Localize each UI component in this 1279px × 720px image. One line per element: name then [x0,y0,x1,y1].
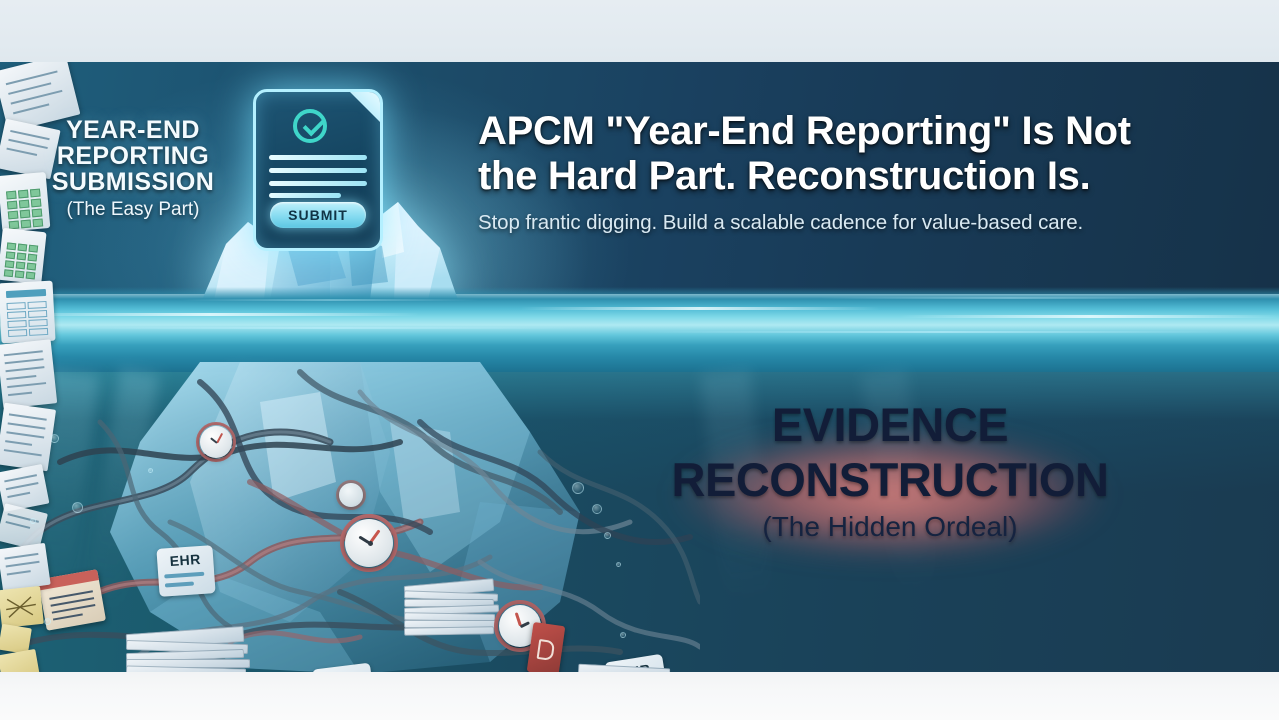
document-text-line [269,168,367,173]
binder-icon [527,622,566,672]
document-page [0,543,51,591]
bubble [30,518,36,524]
submit-button[interactable]: SUBMIT [270,202,366,228]
document-text-line [269,181,367,186]
paper-stack [404,582,500,646]
ehr-card: EHR [156,545,215,597]
tip-label-line-3: SUBMISSION [28,169,238,195]
paper-stack [126,630,252,672]
tip-of-iceberg-label: YEAR-END REPORTING SUBMISSION (The Easy … [28,117,238,222]
document-page [0,403,56,472]
tip-label-caption: (The Easy Part) [28,197,238,222]
bubble [44,618,51,625]
wave-highlight [520,307,880,310]
deep-label-line-2: RECONSTRUCTION [620,452,1160,507]
document-page [0,339,57,408]
wave-highlight [180,299,480,301]
spreadsheet-icon [0,228,47,284]
page-margin-top [0,0,1279,62]
form-document [0,281,56,344]
page-root: EHR EHR EHR [0,0,1279,720]
page-margin-bottom [0,672,1279,720]
ehr-card-label: EHR [169,551,201,569]
bubble [620,632,626,638]
document-text-line [269,193,341,198]
tip-label-line-2: REPORTING [28,143,238,169]
tip-label-line-1: YEAR-END [28,117,238,143]
clock-icon [340,514,398,572]
wave-highlight [60,327,580,329]
document-text-line [269,155,367,160]
clock-icon [336,480,366,510]
wave-highlight [900,315,1279,318]
bubble [572,482,584,494]
submit-button-label: SUBMIT [288,207,348,223]
bubble [50,434,59,443]
headline-line-1: APCM "Year-End Reporting" Is Not [478,109,1253,154]
check-circle-icon [293,109,327,143]
deep-label-line-1: EVIDENCE [620,397,1160,452]
submit-document-icon[interactable]: SUBMIT [253,89,383,251]
clock-icon [196,422,236,462]
sticky-note [0,586,44,628]
bubble [72,502,83,513]
hero-banner-image: EHR EHR EHR [0,62,1279,672]
hidden-ordeal-label: EVIDENCE RECONSTRUCTION (The Hidden Orde… [620,397,1160,545]
headline-block: APCM "Year-End Reporting" Is Not the Har… [478,109,1253,237]
headline-line-2: the Hard Part. Reconstruction Is. [478,154,1253,199]
wave-highlight [0,313,420,316]
headline-subhead: Stop frantic digging. Build a scalable c… [478,209,1253,237]
bubble [592,504,602,514]
bubble [148,468,153,473]
deep-label-caption: (The Hidden Ordeal) [620,509,1160,545]
bubble [604,532,611,539]
bubble [616,562,621,567]
wave-highlight [820,297,1200,299]
wave-highlight [640,331,1240,333]
